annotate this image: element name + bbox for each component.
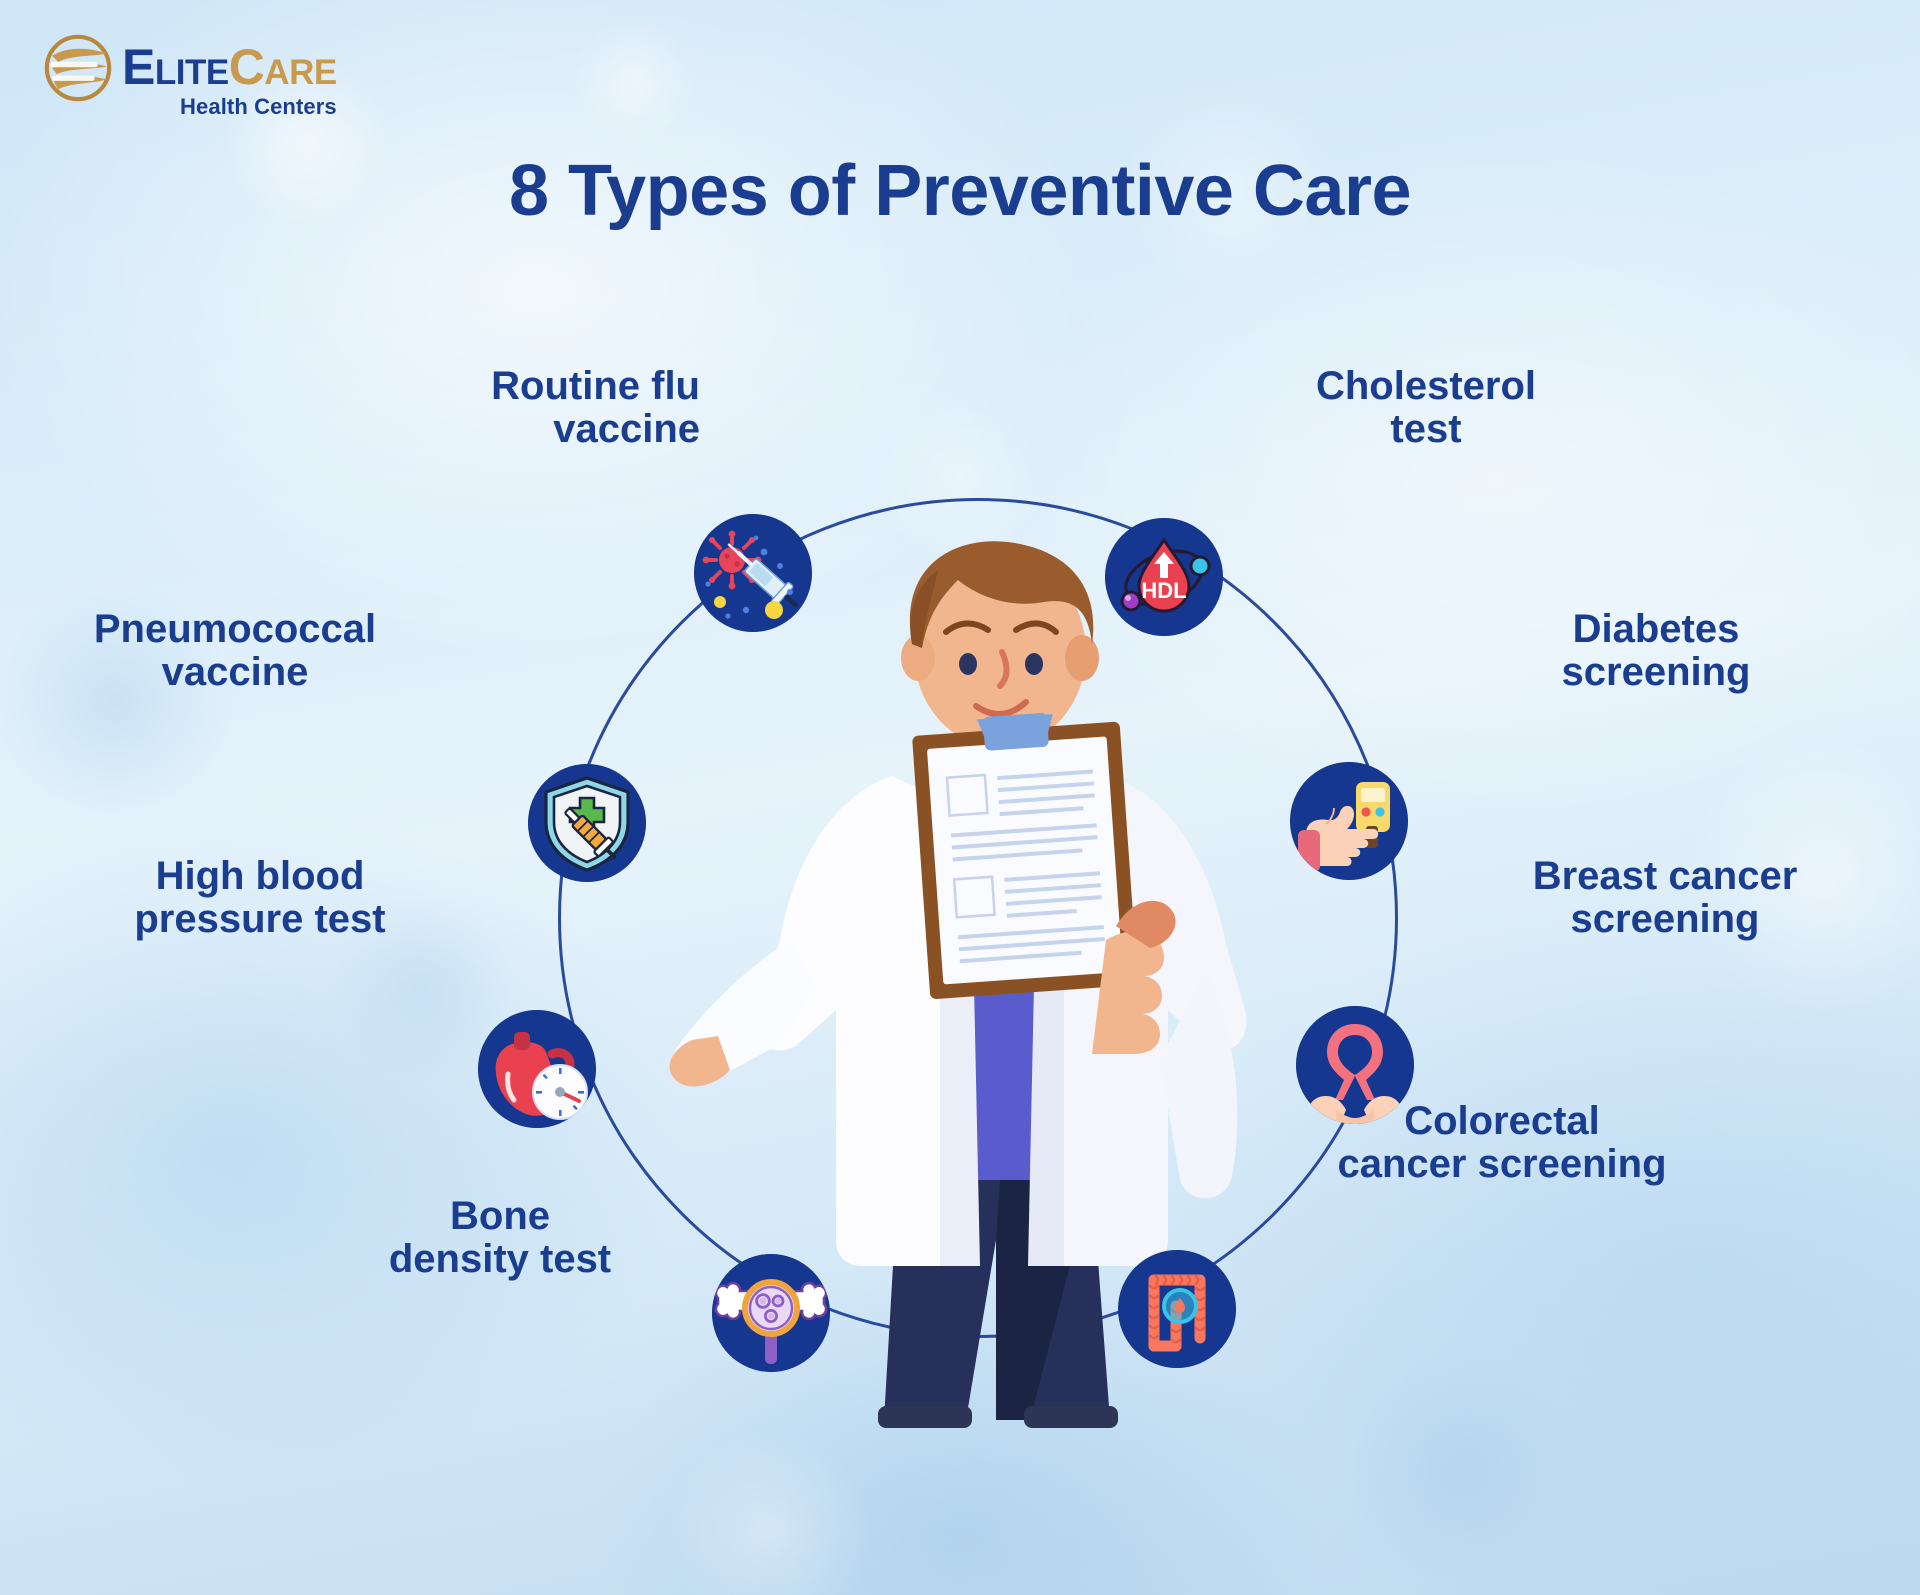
label-bone-density-test: Bone density test	[300, 1195, 700, 1281]
wordmark: ELITECARE	[122, 44, 337, 92]
icon-node-pneumococcal-vaccine[interactable]	[528, 764, 646, 882]
label-high-blood-pressure-test: High blood pressure test	[55, 855, 465, 941]
icon-node-bone-density-test[interactable]	[712, 1254, 830, 1372]
page-title: 8 Types of Preventive Care	[0, 150, 1920, 232]
svg-text:HDL: HDL	[1141, 578, 1186, 603]
elitecare-emblem-icon	[40, 28, 116, 108]
intestine-icon	[1118, 1250, 1236, 1368]
icon-node-diabetes-screening[interactable]	[1290, 762, 1408, 880]
label-breast-cancer-screening: Breast cancer screening	[1440, 855, 1890, 941]
label-colorectal-cancer-screening: Colorectal cancer screening	[1222, 1100, 1782, 1186]
glucometer-hand-icon	[1290, 762, 1408, 880]
infographic-poster: ELITECARE Health Centers 8 Types of Prev…	[0, 0, 1920, 1595]
hdl-blood-drop-icon: HDL	[1105, 518, 1223, 636]
brand-tagline: Health Centers	[122, 94, 337, 120]
syringe-virus-icon	[694, 514, 812, 632]
label-diabetes-screening: Diabetes screening	[1436, 608, 1876, 694]
brand-logo: ELITECARE Health Centers	[40, 28, 337, 120]
bone-magnifier-icon	[712, 1254, 830, 1372]
label-routine-flu-vaccine: Routine flu vaccine	[280, 365, 700, 451]
icon-node-routine-flu-vaccine[interactable]	[694, 514, 812, 632]
heart-gauge-icon	[478, 1010, 596, 1128]
shield-syringe-icon	[528, 764, 646, 882]
icon-node-cholesterol-test[interactable]: HDL	[1105, 518, 1223, 636]
icon-node-colorectal-cancer-screening[interactable]	[1118, 1250, 1236, 1368]
label-pneumococcal-vaccine: Pneumococcal vaccine	[10, 608, 460, 694]
icon-node-high-blood-pressure-test[interactable]	[478, 1010, 596, 1128]
label-cholesterol-test: Cholesterol test	[1216, 365, 1636, 451]
